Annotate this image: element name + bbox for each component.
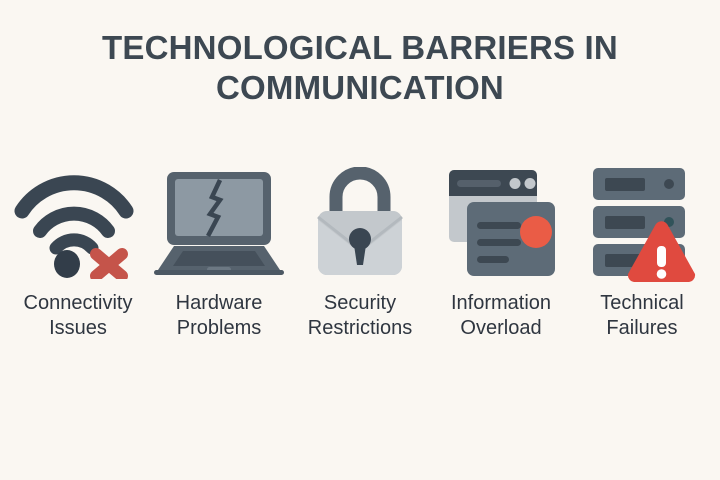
stacked-windows-notification-icon (441, 166, 561, 280)
barrier-item-technical-failures: Technical Failures (572, 160, 712, 341)
infographic-poster: TECHNOLOGICAL BARRIERS IN COMMUNICATION (0, 0, 720, 480)
icon-container (154, 160, 284, 285)
barrier-label-line-1: Hardware (176, 292, 263, 314)
barrier-label-line-1: Technical (600, 292, 683, 314)
barrier-label-line-2: Restrictions (308, 316, 412, 341)
barrier-item-hardware-problems: Hardware Problems (149, 160, 289, 341)
page-title: TECHNOLOGICAL BARRIERS IN COMMUNICATION (0, 28, 720, 108)
barrier-items-row: Connectivity Issues (8, 160, 712, 341)
wifi-disconnected-icon (14, 167, 142, 279)
page-title-line-2: COMMUNICATION (0, 68, 720, 108)
page-title-line-1: TECHNOLOGICAL BARRIERS IN (0, 28, 720, 68)
barrier-item-information-overload: Information Overload (431, 160, 571, 341)
barrier-item-connectivity-issues: Connectivity Issues (8, 160, 148, 341)
server-warning-icon (583, 164, 701, 282)
barrier-label-line-1: Security (324, 292, 396, 314)
icon-container (13, 160, 143, 285)
barrier-label-line-2: Problems (176, 316, 263, 341)
barrier-label-line-1: Information (451, 292, 551, 314)
icon-container (436, 160, 566, 285)
barrier-label-line-1: Connectivity (24, 292, 133, 314)
icon-container (577, 160, 707, 285)
icon-container (295, 160, 425, 285)
barrier-label-line-2: Overload (451, 316, 551, 341)
padlock-icon (308, 167, 412, 279)
barrier-label-line-2: Issues (24, 316, 133, 341)
barrier-label: Security Restrictions (308, 291, 412, 341)
barrier-label-line-2: Failures (600, 316, 683, 341)
barrier-label: Hardware Problems (176, 291, 263, 341)
barrier-label: Technical Failures (600, 291, 683, 341)
cracked-laptop-icon (150, 170, 288, 276)
barrier-item-security-restrictions: Security Restrictions (290, 160, 430, 341)
barrier-label: Information Overload (451, 291, 551, 341)
barrier-label: Connectivity Issues (24, 291, 133, 341)
